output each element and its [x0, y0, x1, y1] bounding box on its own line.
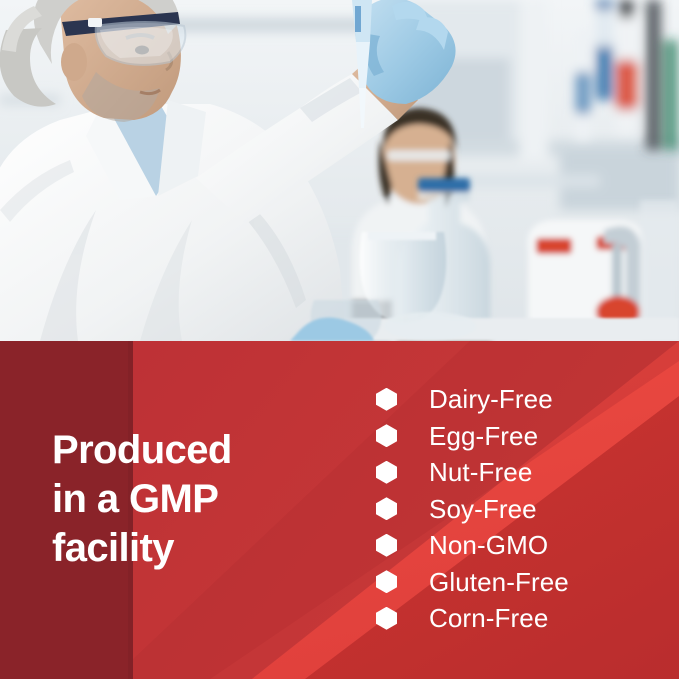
banner-headline: Produced in a GMP facility — [52, 426, 352, 572]
list-item: Soy-Free — [376, 491, 569, 528]
list-item: Gluten-Free — [376, 564, 569, 601]
hexagon-bullet-icon — [376, 570, 397, 593]
list-item: Corn-Free — [376, 600, 569, 637]
hexagon-bullet-icon — [376, 388, 397, 411]
list-item: Nut-Free — [376, 454, 569, 491]
claim-label: Gluten-Free — [429, 569, 569, 595]
claim-label: Non-GMO — [429, 532, 548, 558]
product-feature-poster: Produced in a GMP facility Dairy-Free Eg… — [0, 0, 679, 679]
claim-label: Corn-Free — [429, 605, 548, 631]
hexagon-bullet-icon — [376, 607, 397, 630]
hexagon-bullet-icon — [376, 461, 397, 484]
claim-label: Nut-Free — [429, 459, 532, 485]
list-item: Dairy-Free — [376, 381, 569, 418]
photo-scientist-head — [0, 0, 185, 122]
hexagon-bullet-icon — [376, 497, 397, 520]
list-item: Egg-Free — [376, 418, 569, 455]
laboratory-photo — [0, 0, 679, 341]
claim-label: Egg-Free — [429, 423, 538, 449]
list-item: Non-GMO — [376, 527, 569, 564]
hexagon-bullet-icon — [376, 534, 397, 557]
claims-banner: Produced in a GMP facility Dairy-Free Eg… — [0, 341, 679, 679]
claims-list: Dairy-Free Egg-Free Nut-Free Soy-Free No… — [376, 381, 569, 637]
claim-label: Dairy-Free — [429, 386, 553, 412]
hexagon-bullet-icon — [376, 424, 397, 447]
claim-label: Soy-Free — [429, 496, 537, 522]
laboratory-photo-illustration — [0, 0, 679, 341]
